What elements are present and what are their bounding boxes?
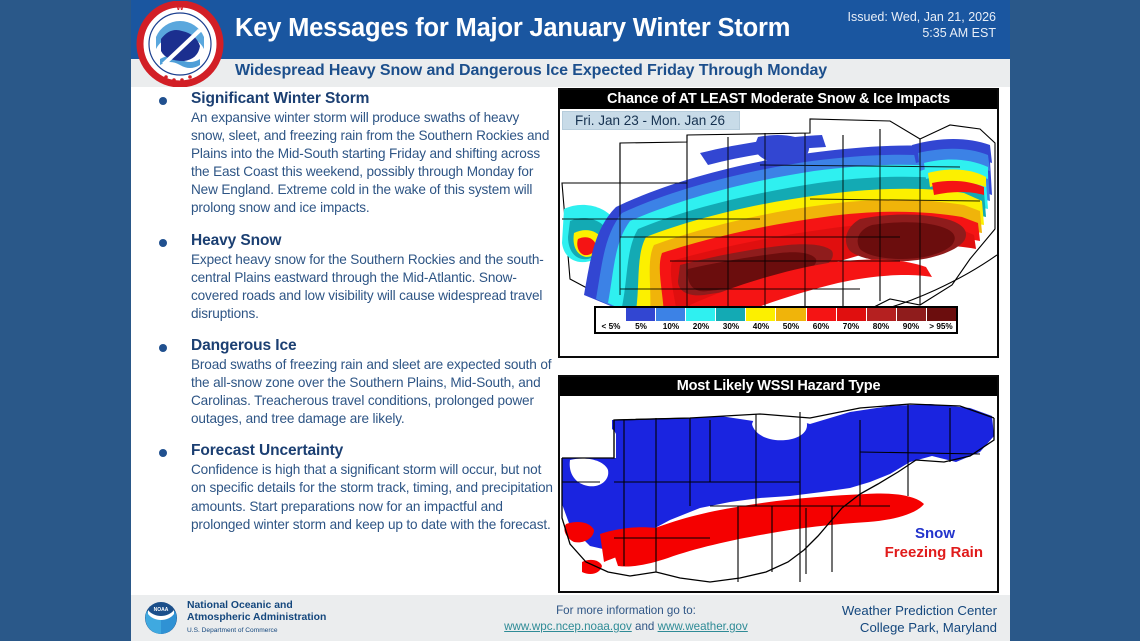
key-message-item: Forecast Uncertainty Confidence is high … (153, 442, 553, 533)
legend-swatch (897, 308, 927, 321)
page-title: Key Messages for Major January Winter St… (235, 11, 805, 45)
footer-bar: NOAA National Oceanic and Atmospheric Ad… (131, 595, 1010, 641)
legend-swatch (807, 308, 837, 321)
key-messages-list: Significant Winter Storm An expansive wi… (153, 90, 553, 548)
more-information-links: www.wpc.ncep.noaa.gov and www.weather.go… (461, 619, 791, 635)
legend-label: 90% (896, 321, 926, 332)
noaa-line-3: U.S. Department of Commerce (187, 627, 326, 634)
key-message-body: Confidence is high that a significant st… (191, 461, 553, 533)
probability-map-panel: Chance of AT LEAST Moderate Snow & Ice I… (558, 88, 999, 358)
legend-swatch (776, 308, 806, 321)
key-message-heading: Significant Winter Storm (191, 90, 553, 108)
issued-time: 5:35 AM EST (848, 25, 996, 41)
screenshot-root: Key Messages for Major January Winter St… (0, 0, 1140, 641)
legend-label: 50% (776, 321, 806, 332)
national-weather-service-seal-icon: W (136, 1, 224, 87)
legend-swatch (716, 308, 746, 321)
legend-label: 80% (866, 321, 896, 332)
key-message-body: Broad swaths of freezing rain and sleet … (191, 356, 553, 428)
key-message-heading: Dangerous Ice (191, 337, 553, 355)
noaa-seal-icon: NOAA (144, 601, 178, 635)
legend-swatch-row (596, 308, 956, 321)
svg-text:NOAA: NOAA (154, 607, 169, 613)
bullet-dot-icon (159, 97, 167, 105)
key-messages-card: Key Messages for Major January Winter St… (131, 0, 1010, 641)
subtitle-text: Widespread Heavy Snow and Dangerous Ice … (235, 62, 827, 80)
wpc-name: Weather Prediction Center (842, 602, 997, 619)
key-message-item: Significant Winter Storm An expansive wi… (153, 90, 553, 218)
probability-map-title: Chance of AT LEAST Moderate Snow & Ice I… (560, 90, 997, 109)
wpc-link[interactable]: www.wpc.ncep.noaa.gov (504, 620, 632, 633)
noaa-line-1: National Oceanic and (187, 600, 326, 612)
legend-label: 40% (746, 321, 776, 332)
key-message-item: Dangerous Ice Broad swaths of freezing r… (153, 337, 553, 428)
hazard-type-map-panel: Most Likely WSSI Hazard Type (558, 375, 999, 593)
subtitle-bar: Widespread Heavy Snow and Dangerous Ice … (131, 59, 1010, 87)
legend-swatch (626, 308, 656, 321)
legend-label-snow: Snow (915, 525, 955, 542)
legend-label: 20% (686, 321, 716, 332)
legend-swatch (746, 308, 776, 321)
legend-swatch (927, 308, 956, 321)
body-content: Significant Winter Storm An expansive wi… (131, 87, 1010, 595)
probability-map-image: Fri. Jan 23 - Mon. Jan 26 (560, 109, 997, 337)
wpc-attribution: Weather Prediction Center College Park, … (842, 602, 997, 636)
legend-label: 5% (626, 321, 656, 332)
legend-swatch (867, 308, 897, 321)
key-message-heading: Forecast Uncertainty (191, 442, 553, 460)
hazard-type-map-title: Most Likely WSSI Hazard Type (560, 377, 997, 396)
legend-label: 10% (656, 321, 686, 332)
more-information: For more information go to: www.wpc.ncep… (461, 603, 791, 635)
key-message-item: Heavy Snow Expect heavy snow for the Sou… (153, 232, 553, 323)
bullet-dot-icon (159, 449, 167, 457)
legend-label: < 5% (596, 321, 626, 332)
issued-date: Issued: Wed, Jan 21, 2026 (848, 9, 996, 25)
legend-swatch (656, 308, 686, 321)
key-message-body: An expansive winter storm will produce s… (191, 109, 553, 218)
more-information-prefix: For more information go to: (461, 603, 791, 619)
issued-timestamp: Issued: Wed, Jan 21, 2026 5:35 AM EST (848, 9, 996, 41)
wpc-location: College Park, Maryland (842, 619, 997, 636)
key-message-body: Expect heavy snow for the Southern Rocki… (191, 251, 553, 323)
legend-swatch (837, 308, 867, 321)
hazard-type-map-image: Snow Freezing Rain (560, 396, 997, 591)
legend-label-row: < 5% 5% 10% 20% 30% 40% 50% 60% 70% 80% … (596, 321, 956, 332)
legend-label: > 95% (926, 321, 956, 332)
legend-label: 60% (806, 321, 836, 332)
weather-gov-link[interactable]: www.weather.gov (658, 620, 748, 633)
legend-label: 70% (836, 321, 866, 332)
legend-label-freezing-rain: Freezing Rain (885, 544, 983, 561)
legend-swatch (596, 308, 626, 321)
svg-text:W: W (176, 3, 184, 12)
bullet-dot-icon (159, 239, 167, 247)
probability-legend: < 5% 5% 10% 20% 30% 40% 50% 60% 70% 80% … (594, 306, 958, 334)
noaa-agency-name: National Oceanic and Atmospheric Adminis… (187, 600, 326, 634)
legend-label: 30% (716, 321, 746, 332)
map-date-range-label: Fri. Jan 23 - Mon. Jan 26 (562, 111, 740, 130)
key-message-heading: Heavy Snow (191, 232, 553, 250)
bullet-dot-icon (159, 344, 167, 352)
link-separator: and (632, 620, 658, 633)
legend-swatch (686, 308, 716, 321)
noaa-line-2: Atmospheric Administration (187, 612, 326, 624)
header-bar: Key Messages for Major January Winter St… (131, 0, 1010, 59)
